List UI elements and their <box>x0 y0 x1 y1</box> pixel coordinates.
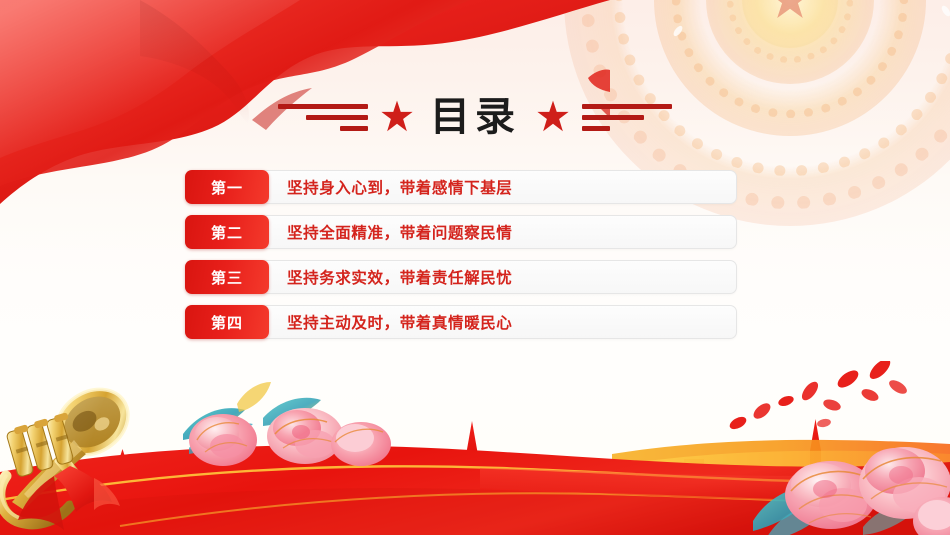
bottom-decoration <box>0 360 950 535</box>
city-skyline-silhouette <box>0 415 950 535</box>
star-icon-left <box>380 100 414 134</box>
mandala-ring-6 <box>706 0 874 84</box>
toc-item-4[interactable]: 第四 坚持主动及时，带着真情暖民心 <box>185 305 737 339</box>
title-decoration-left <box>278 104 368 131</box>
star-icon-right <box>536 100 570 134</box>
mandala-core <box>742 0 838 48</box>
golden-trumpet <box>0 370 244 535</box>
mandala-sparkle <box>672 24 684 37</box>
floating-petals <box>720 361 910 439</box>
peony-flowers-left <box>175 378 405 473</box>
toc-label-4: 坚持主动及时，带着真情暖民心 <box>287 311 512 333</box>
toc-list: 第一 坚持身入心到，带着感情下基层 第二 坚持全面精准，带着问题察民情 第三 坚… <box>185 170 737 350</box>
deco-line <box>278 104 368 109</box>
toc-label-1: 坚持身入心到，带着感情下基层 <box>287 176 512 198</box>
deco-line <box>582 104 672 109</box>
deco-line <box>582 115 644 120</box>
toc-badge-4: 第四 <box>185 305 269 339</box>
page-title: 目录 <box>426 97 524 137</box>
toc-badge-3: 第三 <box>185 260 269 294</box>
deco-line <box>340 126 368 131</box>
mandala-ring-7 <box>727 0 853 63</box>
toc-label-2: 坚持全面精准，带着问题察民情 <box>287 221 512 243</box>
red-silk-wave <box>0 410 950 535</box>
toc-item-3[interactable]: 第三 坚持务求实效，带着责任解民忧 <box>185 260 737 294</box>
toc-badge-1: 第一 <box>185 170 269 204</box>
toc-item-1[interactable]: 第一 坚持身入心到，带着感情下基层 <box>185 170 737 204</box>
title-decoration-right <box>582 104 672 131</box>
mandala-sparkle <box>940 4 950 17</box>
toc-item-2[interactable]: 第二 坚持全面精准，带着问题察民情 <box>185 215 737 249</box>
toc-label-3: 坚持务求实效，带着责任解民忧 <box>287 266 512 288</box>
deco-line <box>582 126 610 131</box>
mandala-center-star-icon <box>768 0 812 22</box>
toc-badge-2: 第二 <box>185 215 269 249</box>
slide-canvas: 目录 第一 坚持身入心到，带着感情下基层 第二 坚持全面精准，带着问题察民情 第… <box>0 0 950 535</box>
deco-line <box>306 115 368 120</box>
peony-flowers-right <box>743 391 950 535</box>
page-title-row: 目录 <box>0 88 950 146</box>
